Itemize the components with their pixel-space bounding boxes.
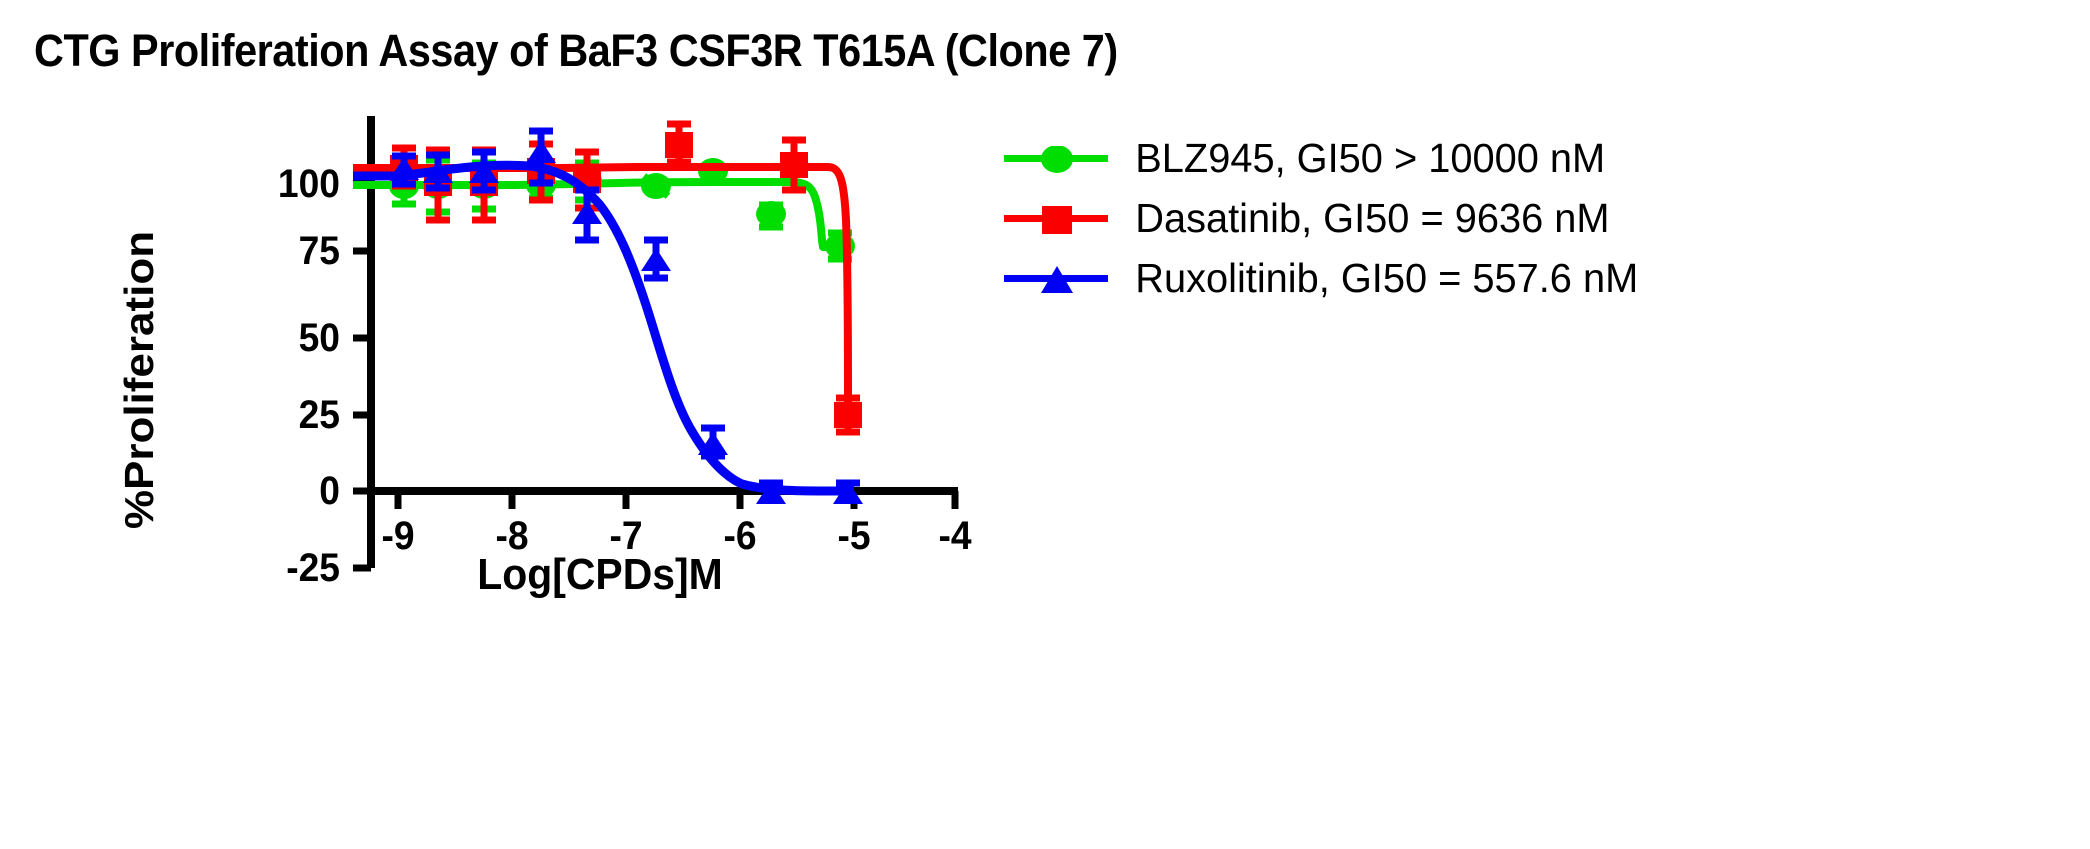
y-tick-label-minus25: -25: [187, 548, 340, 588]
triangle-marker-icon: [1040, 266, 1074, 296]
y-tick-label-50: 50: [201, 318, 341, 358]
legend-key-ruxolitinib: [1000, 258, 1112, 298]
chart-figure: CTG Proliferation Assay of BaF3 CSF3R T6…: [0, 0, 2090, 849]
legend-item-dasatinib: Dasatinib, GI50 = 9636 nM: [1000, 190, 2080, 246]
y-tick-label-25: 25: [201, 395, 341, 435]
y-tick-label-0: 0: [201, 471, 341, 511]
legend-label-dasatinib: Dasatinib, GI50 = 9636 nM: [1112, 195, 1610, 242]
data-point-marker: [389, 140, 863, 504]
plot-area: 100 75 50 25 0 -25 -9 -8 -7 -6 -5 -4 Log…: [0, 0, 1000, 640]
y-tick-label-100: 100: [201, 164, 341, 204]
legend-key-blz945: [1000, 138, 1112, 178]
data-point-marker: [390, 132, 862, 428]
y-tick-label-75: 75: [201, 231, 341, 271]
x-tick-label-minus5: -5: [808, 516, 901, 556]
circle-marker-icon: [1040, 146, 1074, 176]
y-axis-title: %Proliferation: [117, 210, 164, 550]
x-tick-label-minus9: -9: [352, 516, 445, 556]
x-tick-label-minus4: -4: [909, 516, 1002, 556]
legend-key-dasatinib: [1000, 198, 1112, 238]
square-marker-icon: [1040, 206, 1074, 236]
x-axis-title: Log[CPDs]M: [433, 550, 768, 600]
legend-label-blz945: BLZ945, GI50 > 10000 nM: [1112, 135, 1605, 182]
legend-item-ruxolitinib: Ruxolitinib, GI50 = 557.6 nM: [1000, 250, 2080, 306]
legend-item-blz945: BLZ945, GI50 > 10000 nM: [1000, 130, 2080, 186]
legend-label-ruxolitinib: Ruxolitinib, GI50 = 557.6 nM: [1112, 255, 1638, 302]
chart-legend: BLZ945, GI50 > 10000 nM Dasatinib, GI50 …: [1000, 130, 2080, 310]
